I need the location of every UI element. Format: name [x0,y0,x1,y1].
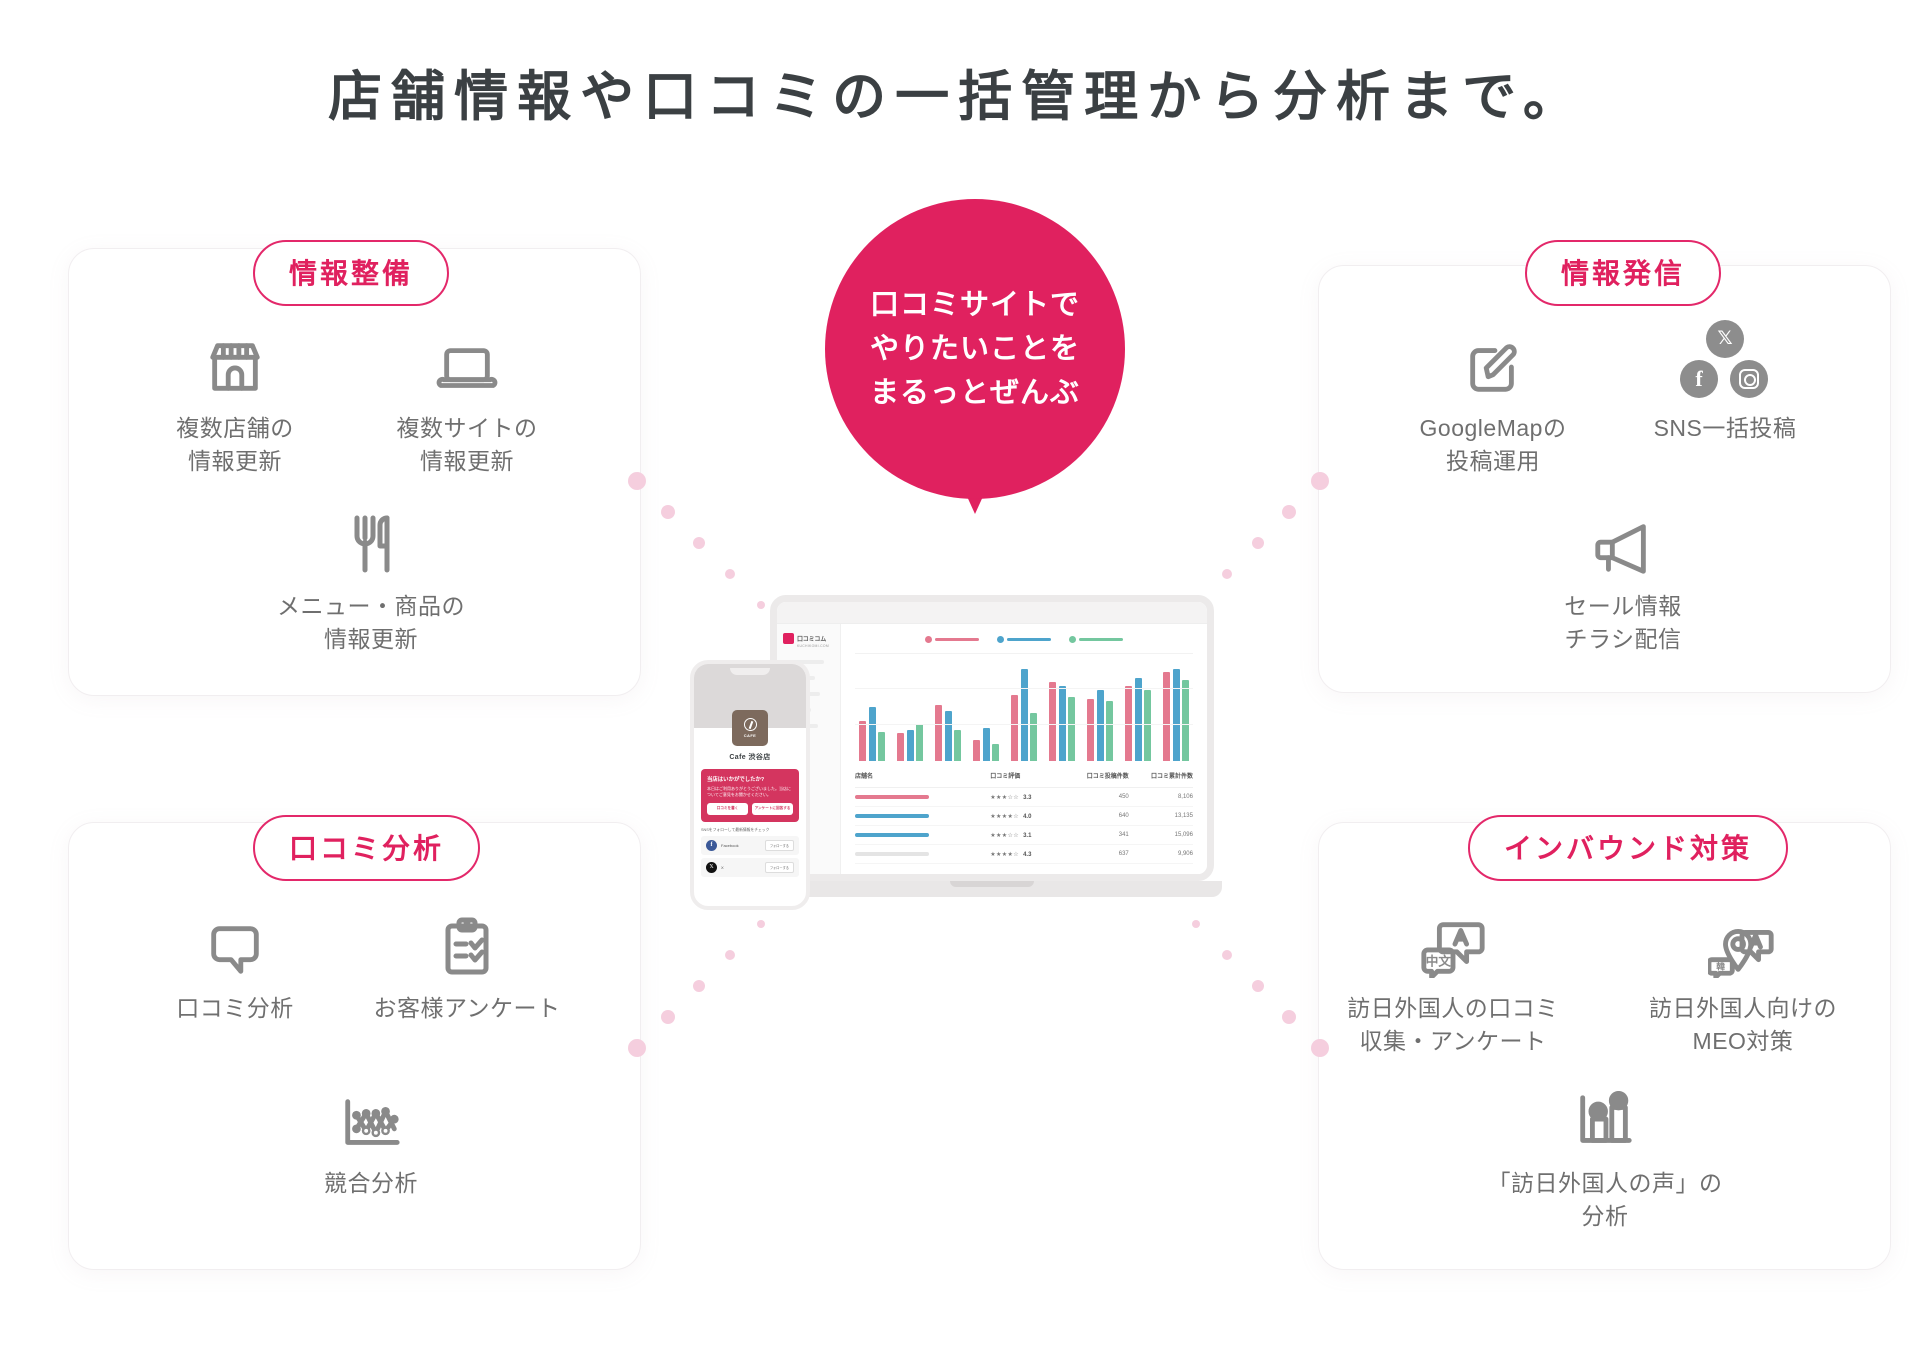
coffee-cup-icon [744,718,757,731]
chart-bar [935,705,942,761]
feature-label: 競合分析 [238,1167,504,1200]
legend-bar [935,638,979,642]
laptop-icon [352,320,582,398]
table-row: ★★★★☆4.064013,135 [855,807,1193,826]
chart-bar [878,732,885,761]
bar-group [1011,669,1037,761]
legend-bar [1079,638,1123,642]
cell-rating: ★★★★☆4.0 [990,813,1064,820]
scatter-chart-icon [238,1075,504,1153]
dashboard-screen: 口コミコム KUCHIKOMI.COM 店舗名口コミ評価口コミ投稿件数 [777,602,1207,874]
chart-bar [907,730,914,761]
facebook-icon: f [1680,360,1718,398]
feature-review-analysis: 口コミ分析 [120,900,350,1025]
bar-group [1125,678,1151,761]
cafe-logo-icon: CAFE [732,710,768,746]
legend-item [997,636,1051,643]
chart-bar [1030,713,1037,761]
chart-bar [945,711,952,761]
bar-group [1163,669,1189,761]
app-logo: 口コミコム [783,633,834,644]
table-header-cell: 口コミ累計件数 [1129,771,1193,780]
chart-bar [954,730,961,761]
feature-googlemap-posting: GoogleMapの 投稿運用 [1378,320,1608,477]
facebook-icon: f [706,840,717,851]
feature-multi-site-update: 複数サイトの 情報更新 [352,320,582,477]
cell-post-count: 637 [1065,851,1129,857]
cell-store-name [855,814,990,818]
chart-bar [1011,695,1018,761]
cell-rating: ★★★☆☆3.3 [990,794,1064,801]
chart-bar [1021,669,1028,761]
logo-text: 口コミコム [797,634,826,643]
bar-group [935,705,961,761]
legend-item [1069,636,1123,643]
feature-label: 「訪日外国人の声」の 分析 [1455,1167,1755,1232]
table-body: ★★★☆☆3.34508,106★★★★☆4.064013,135★★★☆☆3.… [855,788,1193,864]
speech-bubble-icon [120,900,350,978]
cell-rating: ★★★☆☆3.1 [990,832,1064,839]
phone-mockup: CAFE Cafe 渋谷店 当店はいかがでしたか? 本日はご利用ありがとうござい… [690,660,810,910]
sns-follow-row: 𝕏Xフォローする [701,858,799,877]
legend-bar [1007,638,1051,642]
bar-group [973,728,999,761]
cell-post-count: 640 [1065,813,1129,819]
answer-survey-button[interactable]: アンケートに回答する [752,803,793,815]
megaphone-icon [1490,498,1756,576]
badge-review-analysis: 口コミ分析 [253,815,480,881]
chart-bar [1059,686,1066,761]
chart-bar [1106,701,1113,761]
cell-post-count: 341 [1065,832,1129,838]
chart-bar [1125,686,1132,761]
bar-group [859,707,885,761]
table-header-row: 店舗名口コミ評価口コミ投稿件数口コミ累計件数 [855,771,1193,788]
social-icons: 𝕏 f [1610,320,1840,398]
clipboard-check-icon [352,900,582,978]
sns-name: X [721,865,761,870]
feature-label: お客様アンケート [352,992,582,1025]
table-header-cell: 口コミ投稿件数 [1065,771,1129,780]
table-header-cell: 口コミ評価 [990,771,1064,780]
map-pin-translate-icon: 韓 [1598,900,1888,978]
chart-legend [855,636,1193,643]
feature-sns-bulk-post: 𝕏 f SNS一括投稿 [1610,320,1840,445]
store-name-bar [855,852,929,856]
review-bar-chart [855,653,1193,761]
sns-follow-list: fFacebookフォローする𝕏Xフォローする [694,836,806,877]
write-review-button[interactable]: 口コミを書く [707,803,748,815]
browser-chrome-bar [777,602,1207,624]
feature-multi-store-update: 複数店舗の 情報更新 [120,320,350,477]
cell-store-name [855,852,990,856]
feature-label: GoogleMapの 投稿運用 [1378,412,1608,477]
phone-notch [730,668,770,675]
bar-group [897,724,923,761]
svg-text:韓: 韓 [1716,960,1725,971]
feature-menu-product-update: メニュー・商品の 情報更新 [238,498,504,655]
badge-info-publishing: 情報発信 [1525,240,1721,306]
chart-bar [1173,669,1180,761]
feature-inbound-meo: 韓 訪日外国人向けの MEO対策 [1598,900,1888,1057]
dashboard-main: 店舗名口コミ評価口コミ投稿件数口コミ累計件数 ★★★☆☆3.34508,106★… [841,624,1207,874]
store-name-bar [855,833,929,837]
sns-heading: SNSをフォローして最新情報をチェック [701,828,799,833]
survey-question: 当店はいかがでしたか? [707,775,793,783]
svg-text:中文: 中文 [1426,953,1452,968]
store-review-table: 店舗名口コミ評価口コミ投稿件数口コミ累計件数 ★★★☆☆3.34508,106★… [855,771,1193,864]
table-row: ★★★★☆4.36379,906 [855,845,1193,864]
chart-bar [897,733,904,761]
legend-dot [925,636,932,643]
x-icon: 𝕏 [706,862,717,873]
survey-body: 本日はご利用ありがとうございました。当店についてご意見をお聞かせください。 [707,786,793,798]
translate-bubble-icon: 中文 [1308,900,1598,978]
center-bubble: 口コミサイトで やりたいことを まるっとぜんぶ [825,199,1125,499]
chart-bar [1068,697,1075,761]
cell-total-count: 9,906 [1129,851,1193,857]
badge-info-maintenance: 情報整備 [253,240,449,306]
feature-inbound-review-collection: 中文 訪日外国人の口コミ 収集・アンケート [1308,900,1598,1057]
center-bubble-text: 口コミサイトで やりたいことを まるっとぜんぶ [870,283,1080,415]
chart-bar [1182,680,1189,761]
feature-label: SNS一括投稿 [1610,412,1840,445]
chart-bar [1163,672,1170,761]
table-header-cell: 店舗名 [855,771,990,780]
chart-bar [992,744,999,761]
card-review-analysis [68,822,641,1270]
laptop-mockup: 口コミコム KUCHIKOMI.COM 店舗名口コミ評価口コミ投稿件数 [762,595,1222,915]
cafe-logo-text: CAFE [744,733,757,738]
chart-bar [1087,699,1094,761]
feature-label: 訪日外国人の口コミ 収集・アンケート [1308,992,1598,1057]
fork-knife-icon [238,498,504,576]
edit-pencil-icon [1378,320,1608,398]
bar-group [1087,690,1113,761]
feature-label: 複数店舗の 情報更新 [120,412,350,477]
logo-subtext: KUCHIKOMI.COM [797,644,834,648]
table-row: ★★★☆☆3.34508,106 [855,788,1193,807]
chart-bar [1135,678,1142,761]
feature-label: 訪日外国人向けの MEO対策 [1598,992,1888,1057]
page-title: 店舗情報や口コミの一括管理から分析まで。 [0,52,1914,131]
cell-store-name [855,833,990,837]
chart-bar [1049,682,1056,761]
cell-total-count: 8,106 [1129,794,1193,800]
phone-store-name: Cafe 渋谷店 [694,752,806,762]
sns-name: Facebook [721,843,761,848]
cell-post-count: 450 [1065,794,1129,800]
feature-customer-survey: お客様アンケート [352,900,582,1025]
follow-button[interactable]: フォローする [765,840,794,851]
cell-rating: ★★★★☆4.3 [990,851,1064,858]
feature-label: セール情報 チラシ配信 [1490,590,1756,655]
chart-bar [983,728,990,761]
legend-dot [1069,636,1076,643]
feature-label: メニュー・商品の 情報更新 [238,590,504,655]
feature-competitor-analysis: 競合分析 [238,1075,504,1200]
table-row: ★★★☆☆3.134115,096 [855,826,1193,845]
laptop-base [762,881,1222,897]
chart-bar [869,707,876,761]
storefront-icon [120,320,350,398]
cell-total-count: 15,096 [1129,832,1193,838]
cell-total-count: 13,135 [1129,813,1193,819]
chart-bar [1144,690,1151,761]
legend-item [925,636,979,643]
feature-inbound-voice-analysis: 「訪日外国人の声」の 分析 [1455,1075,1755,1232]
store-name-bar [855,795,929,799]
bar-chart-globe-icon [1455,1075,1755,1153]
logo-mark [783,633,794,644]
chart-bar [1097,690,1104,761]
chart-bar [973,740,980,761]
instagram-icon [1730,360,1768,398]
feature-sale-flyer: セール情報 チラシ配信 [1490,498,1756,655]
badge-inbound-measures: インバウンド対策 [1468,815,1788,881]
x-icon: 𝕏 [1706,320,1744,358]
legend-dot [997,636,1004,643]
survey-card: 当店はいかがでしたか? 本日はご利用ありがとうございました。当店についてご意見を… [701,769,799,822]
bar-group [1049,682,1075,761]
cell-store-name [855,795,990,799]
laptop-screen-frame: 口コミコム KUCHIKOMI.COM 店舗名口コミ評価口コミ投稿件数 [770,595,1214,881]
chart-bar [916,724,923,761]
store-name-bar [855,814,929,818]
chart-bar [859,721,866,761]
sns-follow-row: fFacebookフォローする [701,836,799,855]
feature-label: 複数サイトの 情報更新 [352,412,582,477]
infographic-stage: 店舗情報や口コミの一括管理から分析まで。 情報整備 複数店舗の 情報更新 複数サ… [0,0,1914,1350]
follow-button[interactable]: フォローする [765,862,794,873]
feature-label: 口コミ分析 [120,992,350,1025]
